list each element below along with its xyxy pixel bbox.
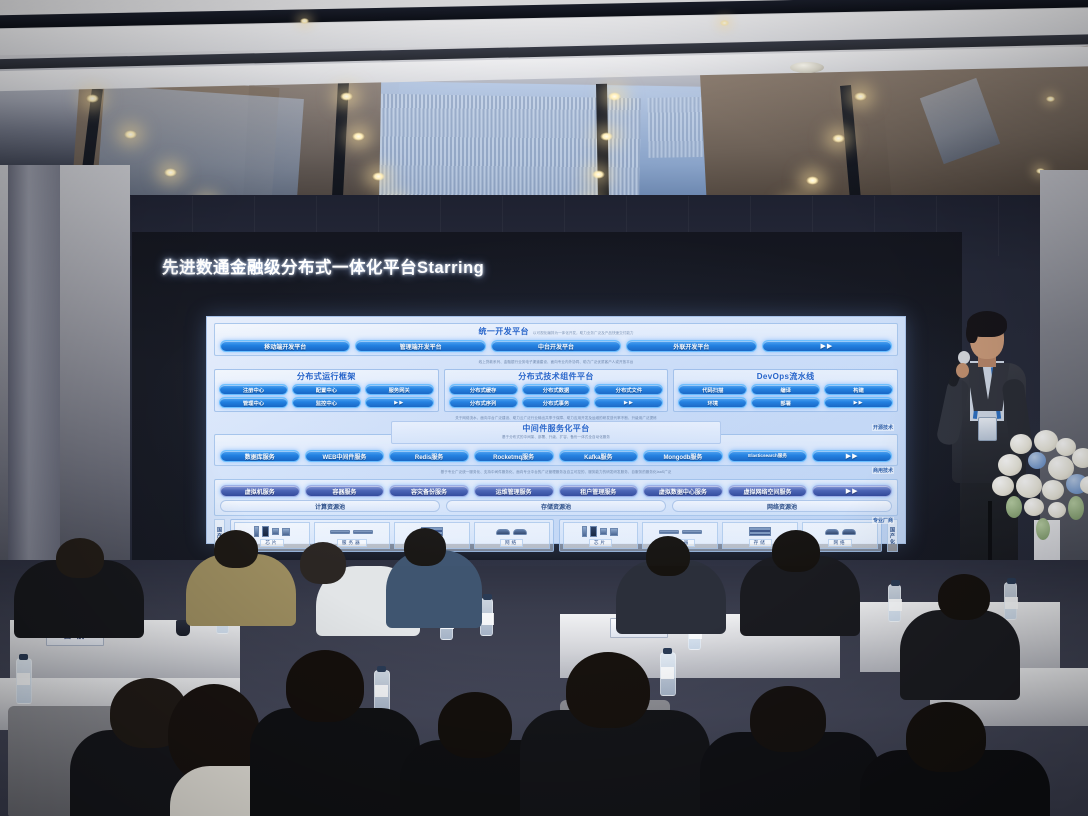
group-title: 分布式技术组件平台 — [449, 372, 664, 382]
chip-distributed-data[interactable]: 分布式数据 — [522, 384, 591, 395]
ceiling-spotlight — [806, 176, 819, 185]
audience-head — [750, 686, 826, 752]
water-bottle — [16, 658, 32, 704]
chip-more-runtime[interactable]: ▶▶ — [365, 397, 434, 408]
unified-dev-platform-items: 移动端开发平台 管理端开发平台 中台开发平台 外联开发平台 ▶▶ — [220, 340, 892, 352]
audience-head — [286, 650, 364, 722]
middleware-caption: 基于专业广泛统一服务化、支持中间件服务化、面向专业中台的广泛管理服务及自主可控的… — [214, 470, 898, 475]
chip-database-service[interactable]: 数据库服务 — [220, 450, 300, 462]
group-title: 分布式运行框架 — [219, 372, 434, 382]
ceiling-spotlight — [340, 92, 353, 101]
chip-tenant-management-service[interactable]: 租户管理服务 — [559, 485, 639, 497]
ceiling-spotlight — [86, 94, 99, 103]
audience-head — [404, 528, 446, 566]
audience-head — [906, 702, 986, 772]
chip-distributed-file[interactable]: 分布式文件 — [594, 384, 663, 395]
storage-icon — [749, 525, 771, 538]
chip-monitor-center[interactable]: 监控中心 — [292, 397, 361, 408]
chip-build[interactable]: 构建 — [824, 384, 893, 395]
tier-tag-vendor: 专业厂商 — [872, 517, 894, 524]
hardware-label: 服务器 — [337, 539, 367, 547]
unified-dev-platform-title: 统一开发平台以可视化编排为一体化开发，助力业务广泛及产品快速交付能力 — [220, 327, 892, 338]
group-items-row2: 分布式序列 分布式事务 ▶▶ — [449, 397, 664, 408]
hardware-label: 存储 — [749, 539, 772, 547]
pool-compute: 计算资源池 — [220, 500, 440, 512]
chip-more-cloud[interactable]: ▶▶ — [812, 485, 892, 497]
chip-admin-dev-platform[interactable]: 管理端开发平台 — [355, 340, 485, 352]
projection-screen: 先进数通金融级分布式一体化平台Starring 统一开发平台以可视化编排为一体化… — [132, 232, 962, 566]
chip-icon — [582, 525, 618, 538]
conference-photo-scene: 先进数通金融级分布式一体化平台Starring 统一开发平台以可视化编排为一体化… — [0, 0, 1088, 816]
ceiling-dome-fixture — [790, 62, 824, 73]
hardware-block-left: 芯片 服务器 存储 — [230, 519, 554, 552]
chip-more-devops[interactable]: ▶▶ — [824, 397, 893, 408]
hardware-label: 网络 — [500, 539, 523, 547]
chip-virtual-network-space-service[interactable]: 虚拟网络空间服务 — [728, 485, 808, 497]
chip-distributed-sequence[interactable]: 分布式序列 — [449, 397, 518, 408]
tier-tag-opensource: 开源技术 — [872, 424, 894, 431]
chip-kafka-service[interactable]: Kafka服务 — [559, 450, 639, 462]
unified-dev-platform-band: 统一开发平台以可视化编排为一体化开发，助力业务广泛及产品快速交付能力 移动端开发… — [214, 323, 898, 356]
dev-platform-caption: 线上贷款系列、金融银行业务电子渠道建设、面向专业内外协同、助力广泛优质客户人或开… — [214, 360, 898, 365]
chip-container-service[interactable]: 容器服务 — [305, 485, 385, 497]
chip-more-components[interactable]: ▶▶ — [594, 397, 663, 408]
group-items-row2: 环境 部署 ▶▶ — [678, 397, 893, 408]
group-items-row1: 代码扫描 编译 构建 — [678, 384, 893, 395]
chip-elasticsearch-service[interactable]: Elasticsearch服务 — [728, 450, 808, 462]
middleware-platform-header: 中间件服务化平台 基于分布式的中间架、部署、升级、扩容、备份一体式全自动化服务 — [391, 421, 721, 444]
chip-distributed-cache[interactable]: 分布式缓存 — [449, 384, 518, 395]
chip-dr-backup-service[interactable]: 容灾备份服务 — [389, 485, 469, 497]
chip-distributed-transaction[interactable]: 分布式事务 — [522, 397, 591, 408]
ceiling-spotlight — [300, 18, 309, 24]
band-subtitle-text: 以可视化编排为一体化开发，助力业务广泛及产品快速交付能力 — [533, 331, 634, 335]
audience-head — [566, 652, 650, 728]
group-distributed-tech-components: 分布式技术组件平台 分布式缓存 分布式数据 分布式文件 分布式序列 分布式事务 … — [444, 369, 669, 412]
chip-redis-service[interactable]: Redis服务 — [389, 450, 469, 462]
chip-management-center[interactable]: 管理中心 — [219, 397, 288, 408]
chip-service-gateway[interactable]: 服务网关 — [365, 384, 434, 395]
ceiling-spotlight — [372, 172, 385, 181]
chip-virtual-datacenter-service[interactable]: 虚拟数据中心服务 — [643, 485, 723, 497]
ceiling — [0, 0, 1088, 210]
network-icon — [825, 525, 856, 538]
slide-title: 先进数通金融级分布式一体化平台Starring — [162, 254, 484, 278]
cloud-items: 虚拟机服务 容器服务 容灾备份服务 运维管理服务 租户管理服务 虚拟数据中心服务… — [220, 485, 892, 497]
chip-code-scan[interactable]: 代码扫描 — [678, 384, 747, 395]
group-items-row1: 注册中心 配置中心 服务网关 — [219, 384, 434, 395]
chip-ops-management-service[interactable]: 运维管理服务 — [474, 485, 554, 497]
chip-mobile-dev-platform[interactable]: 移动端开发平台 — [220, 340, 350, 352]
audience-head — [772, 530, 820, 572]
chip-vm-service[interactable]: 虚拟机服务 — [220, 485, 300, 497]
chip-more-dev-platform[interactable]: ▶▶ — [762, 340, 892, 352]
band-title-text: 统一开发平台 — [478, 327, 528, 336]
cloud-resource-band: 虚拟机服务 容器服务 容灾备份服务 运维管理服务 租户管理服务 虚拟数据中心服务… — [214, 479, 898, 516]
chip-rocketmq-service[interactable]: Rocketmq服务 — [474, 450, 554, 462]
audience-head — [300, 542, 346, 584]
ceiling-spotlight — [1046, 96, 1055, 102]
pool-storage: 存储资源池 — [446, 500, 666, 512]
middleware-subtitle: 基于分布式的中间架、部署、升级、扩容、备份一体式全自动化服务 — [392, 435, 720, 440]
ceiling-spotlight — [600, 132, 613, 141]
chip-registry-center[interactable]: 注册中心 — [219, 384, 288, 395]
slide-architecture-diagram: 统一开发平台以可视化编排为一体化开发，助力业务广泛及产品快速交付能力 移动端开发… — [206, 316, 906, 544]
ceiling-spotlight — [832, 134, 845, 143]
resource-pools: 计算资源池 存储资源池 网络资源池 — [220, 500, 892, 512]
audience-head — [938, 574, 990, 620]
chip-compile[interactable]: 编译 — [751, 384, 820, 395]
ceiling-spotlight — [352, 132, 365, 141]
ceiling-spotlight — [608, 92, 621, 101]
hardware-cell-chip: 芯片 — [563, 522, 639, 549]
microphone-head — [958, 351, 970, 364]
audience-person — [900, 610, 1020, 700]
tier-tag-commercial: 商用技术 — [872, 467, 894, 474]
ceiling-spotlight — [592, 170, 605, 179]
floor-and-audience-area: 国 航 爱 奇 — [0, 560, 1088, 816]
pool-network: 网络资源池 — [672, 500, 892, 512]
hardware-label: 芯片 — [260, 539, 283, 547]
group-title: DevOps流水线 — [678, 372, 893, 382]
ceiling-spotlight — [124, 130, 137, 139]
group-distributed-runtime-framework: 分布式运行框架 注册中心 配置中心 服务网关 管理中心 监控中心 ▶▶ — [214, 369, 439, 412]
audience-head — [56, 538, 104, 578]
flower-arrangement — [990, 430, 1088, 550]
chip-midplatform-dev-platform[interactable]: 中台开发平台 — [491, 340, 621, 352]
water-bottle — [1004, 582, 1017, 620]
hardware-label: 芯片 — [589, 539, 612, 547]
group-items-row1: 分布式缓存 分布式数据 分布式文件 — [449, 384, 664, 395]
audience-head — [438, 692, 512, 758]
chip-environment[interactable]: 环境 — [678, 397, 747, 408]
middleware-title: 中间件服务化平台 — [392, 424, 720, 434]
ceiling-spotlight — [164, 168, 177, 177]
hardware-cell-network: 网络 — [474, 522, 550, 549]
server-icon — [330, 525, 373, 538]
network-icon — [496, 525, 527, 538]
chip-more-middleware[interactable]: ▶▶ — [812, 450, 892, 462]
audience-head — [646, 536, 690, 576]
chip-web-middleware-service[interactable]: WEB中间件服务 — [305, 450, 385, 462]
hardware-block-right: 芯片 服务器 存储 — [559, 519, 883, 552]
mid-groups-row: 分布式运行框架 注册中心 配置中心 服务网关 管理中心 监控中心 ▶▶ 分布式技… — [214, 369, 898, 412]
group-items-row2: 管理中心 监控中心 ▶▶ — [219, 397, 434, 408]
chip-icon — [254, 525, 290, 538]
chip-config-center[interactable]: 配置中心 — [292, 384, 361, 395]
middleware-items: 数据库服务 WEB中间件服务 Redis服务 Rocketmq服务 Kafka服… — [220, 450, 892, 462]
hardware-label: 网络 — [828, 539, 851, 547]
middleware-platform-band: 中间件服务化平台 基于分布式的中间架、部署、升级、扩容、备份一体式全自动化服务 … — [214, 434, 898, 466]
audience-person — [250, 708, 420, 816]
chip-deploy[interactable]: 部署 — [751, 397, 820, 408]
ceiling-wood-panel — [700, 64, 907, 214]
water-bottle — [888, 584, 901, 622]
chip-mongodb-service[interactable]: Mongodb服务 — [643, 450, 723, 462]
presenter-hand — [956, 363, 969, 378]
presenter-hair — [966, 319, 978, 343]
group-devops-pipeline: DevOps流水线 代码扫描 编译 构建 环境 部署 ▶▶ — [673, 369, 898, 412]
ceiling-spotlight — [720, 20, 729, 26]
ceiling-spotlight — [854, 92, 867, 101]
audience-head — [214, 530, 258, 568]
water-bottle — [660, 652, 676, 696]
chip-external-dev-platform[interactable]: 外联开发平台 — [626, 340, 756, 352]
